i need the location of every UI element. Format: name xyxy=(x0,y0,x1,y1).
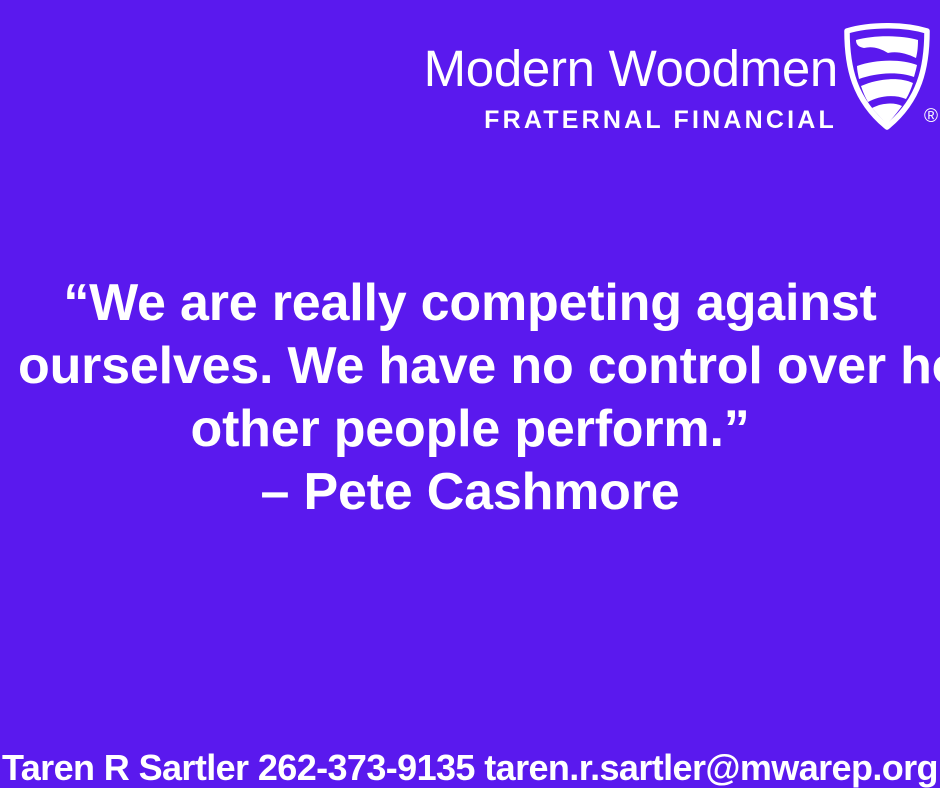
logo-tagline: FRATERNAL FINANCIAL xyxy=(484,108,837,133)
quote-graphic-card: Modern Woodmen FRATERNAL FINANCIAL ® “We… xyxy=(0,0,940,788)
logo-wordmark-group: Modern Woodmen FRATERNAL FINANCIAL xyxy=(424,22,838,133)
quote-line-1: “We are really competing against xyxy=(18,272,922,335)
shield-icon: ® xyxy=(844,22,930,130)
footer-contact-line: Taren R Sartler 262-373-9135 taren.r.sar… xyxy=(0,746,940,788)
registered-trademark-icon: ® xyxy=(924,107,938,126)
logo-brand-name: Modern Woodmen xyxy=(424,42,838,95)
quote-block: “We are really competing against ourselv… xyxy=(0,272,940,524)
quote-line-2: ourselves. We have no control over how xyxy=(18,335,922,398)
brand-logo: Modern Woodmen FRATERNAL FINANCIAL ® xyxy=(424,22,930,133)
quote-attribution: – Pete Cashmore xyxy=(18,461,922,524)
quote-line-3: other people perform.” xyxy=(18,398,922,461)
